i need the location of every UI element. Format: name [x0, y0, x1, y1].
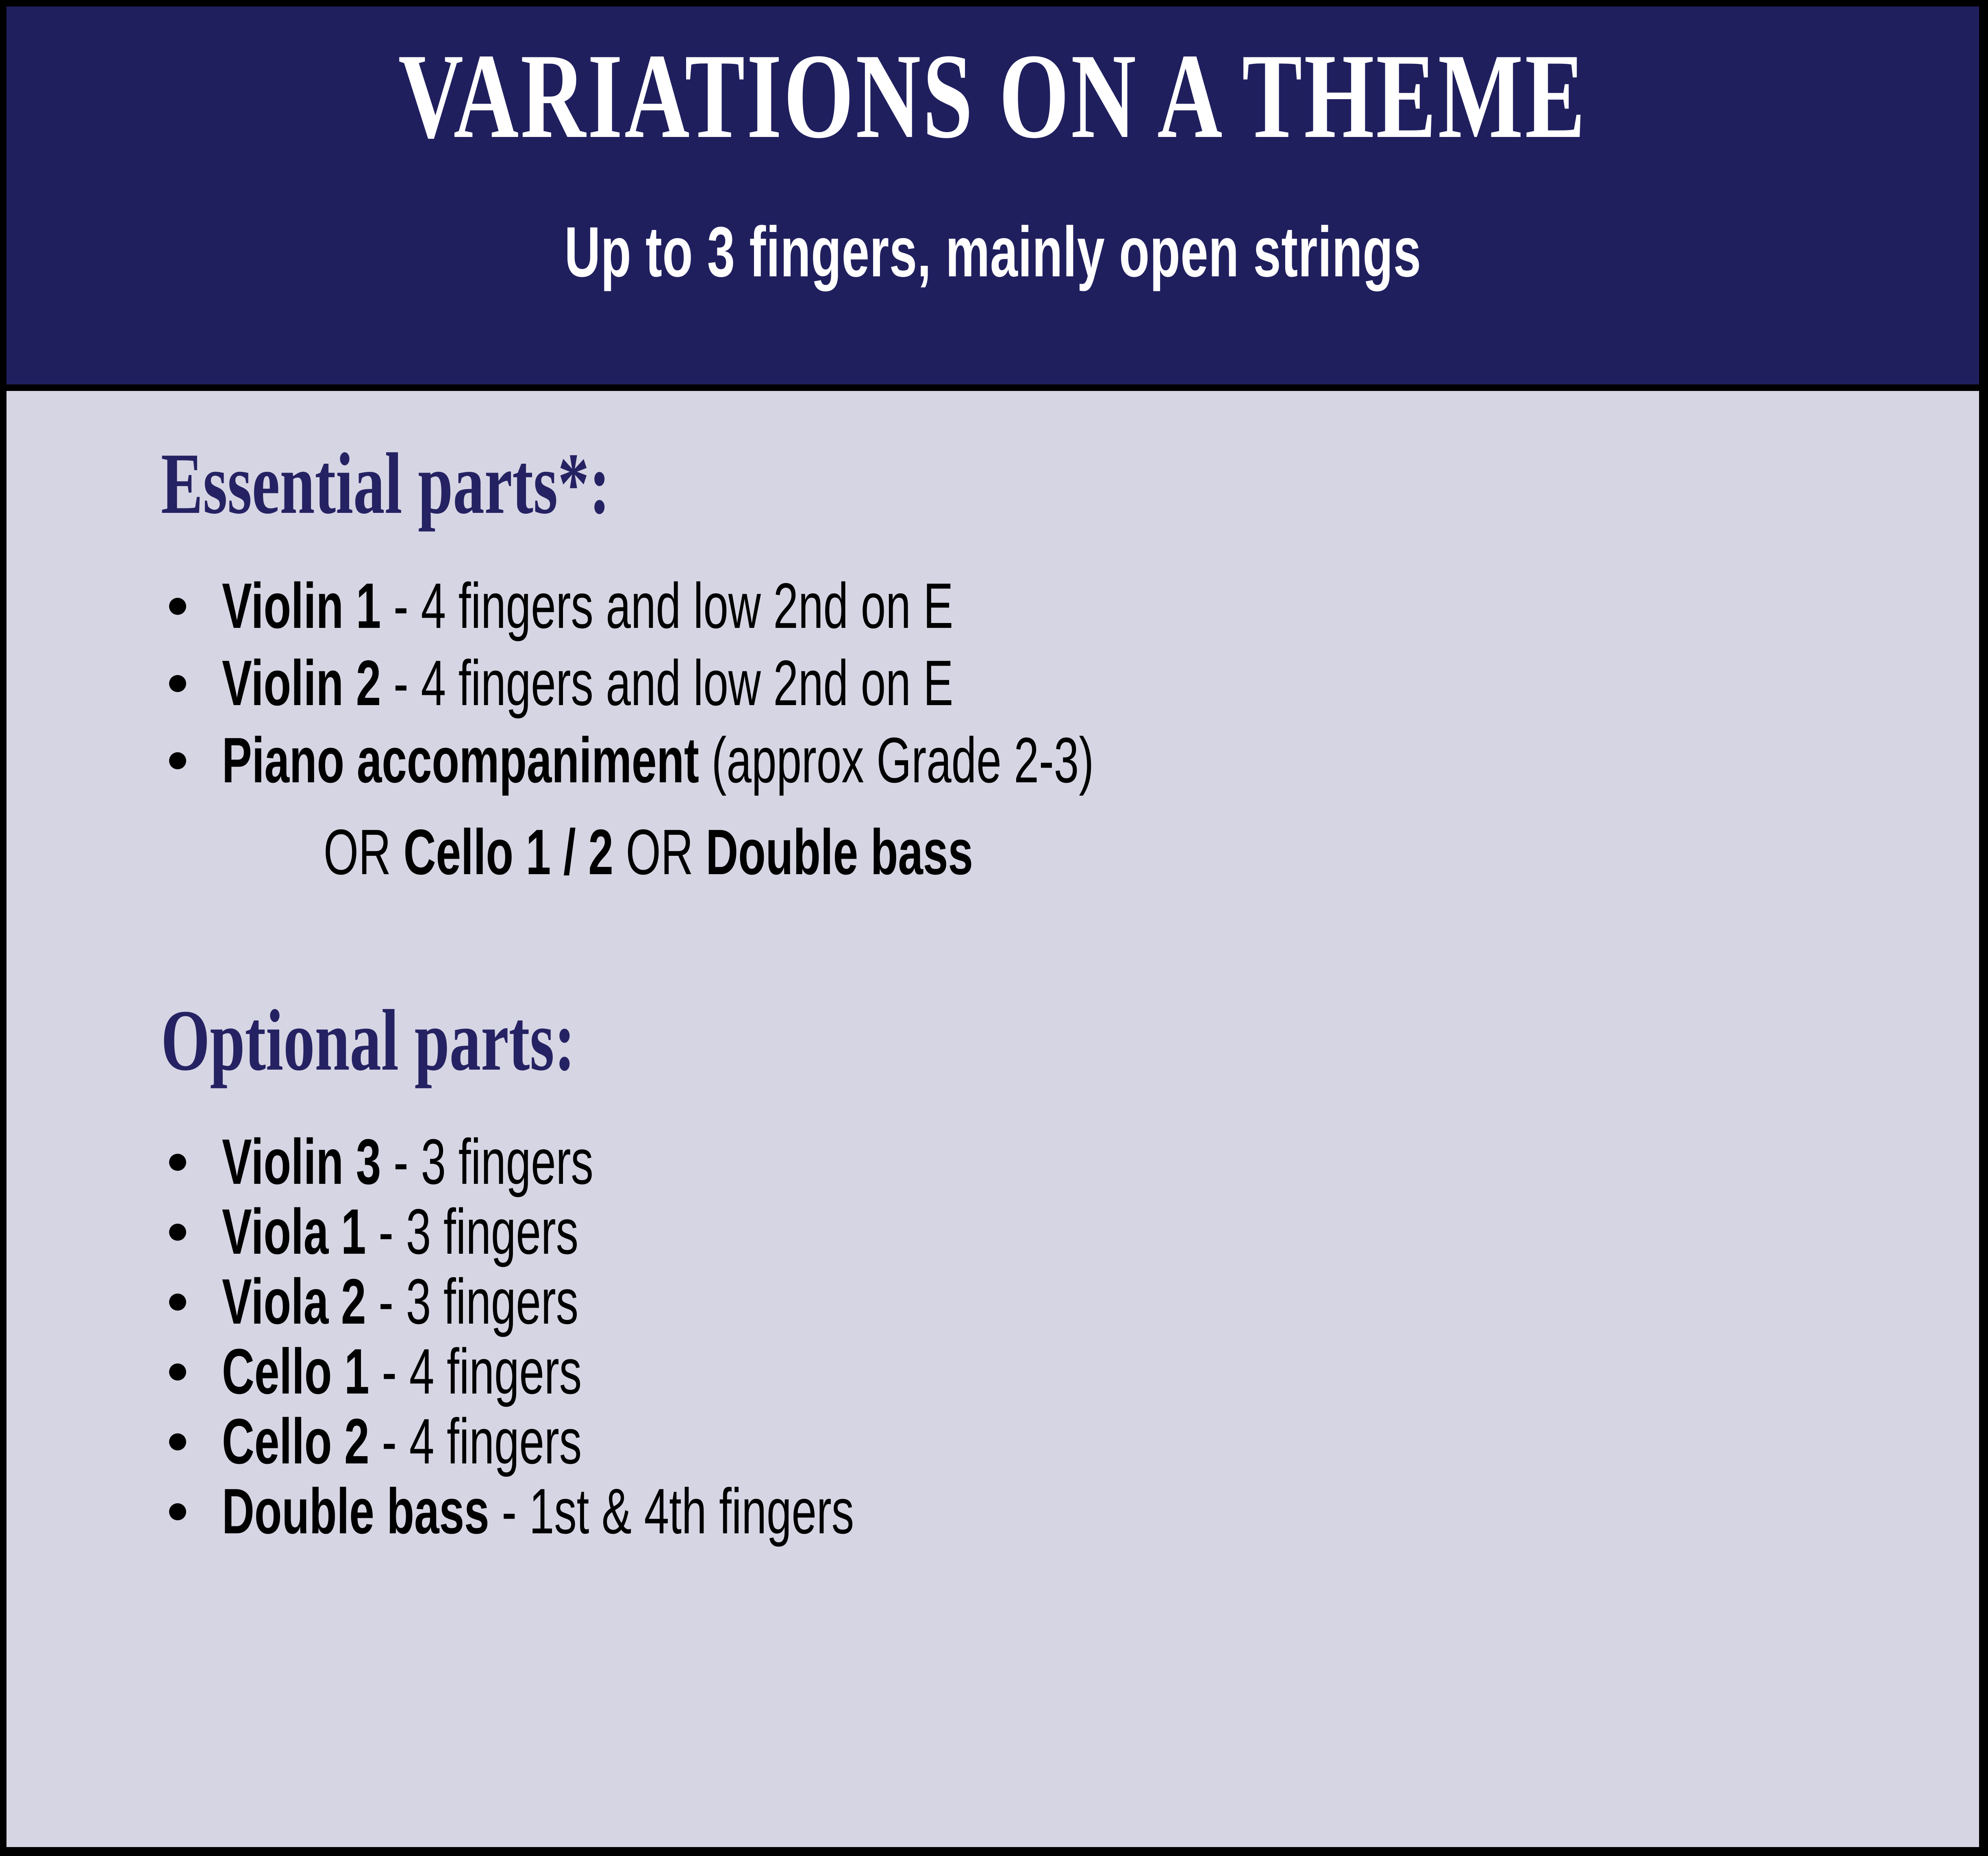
part-name: Viola 2 [222, 1266, 366, 1337]
subtitle-container: Up to 3 fingers, mainly open strings [7, 214, 1979, 295]
bullet-icon [169, 1363, 186, 1381]
essential-parts-heading: Essential parts*: [161, 440, 1039, 527]
alternative-parts-line: OR Cello 1 / 2 OR Double bass [7, 820, 1979, 885]
or-keyword-2: OR [613, 816, 706, 888]
page-title: VARIATIONS ON A THEME [398, 35, 1587, 157]
header-band: VARIATIONS ON A THEME Up to 3 fingers, m… [7, 7, 1979, 384]
part-entry: Cello 2 - 4 fingers [222, 1411, 582, 1472]
bullet-icon [169, 752, 186, 769]
body-panel: Essential parts*: Violin 1 - 4 fingers a… [7, 391, 1979, 1847]
bullet-icon [169, 598, 186, 615]
list-item: Violin 2 - 4 fingers and low 2nd on E [7, 653, 1979, 730]
alternative-option-2: Double bass [706, 816, 973, 888]
list-item: Violin 3 - 3 fingers [7, 1132, 1979, 1202]
part-entry: Violin 2 - 4 fingers and low 2nd on E [222, 653, 953, 713]
part-name: Double bass [222, 1476, 489, 1547]
poster-card: VARIATIONS ON A THEME Up to 3 fingers, m… [0, 0, 1988, 1856]
part-description: - 4 fingers [369, 1406, 582, 1477]
alternative-option-1: Cello 1 / 2 [404, 816, 613, 888]
bullet-icon [169, 1224, 186, 1241]
essential-parts-list: Violin 1 - 4 fingers and low 2nd on E Vi… [7, 576, 1979, 808]
part-name: Violin 1 [222, 570, 381, 642]
optional-parts-list: Violin 3 - 3 fingers Viola 1 - 3 fingers… [7, 1132, 1979, 1551]
part-name: Cello 1 [222, 1336, 369, 1407]
bullet-icon [169, 1294, 186, 1311]
list-item: Viola 2 - 3 fingers [7, 1272, 1979, 1342]
part-entry: Violin 3 - 3 fingers [222, 1132, 593, 1192]
list-item: Violin 1 - 4 fingers and low 2nd on E [7, 576, 1979, 653]
alternative-parts-text: OR Cello 1 / 2 OR Double bass [324, 820, 973, 885]
part-entry: Viola 1 - 3 fingers [222, 1202, 578, 1262]
list-item: Viola 1 - 3 fingers [7, 1202, 1979, 1272]
optional-parts-section: Optional parts: Violin 3 - 3 fingers Vio… [7, 996, 1979, 1551]
part-entry: Violin 1 - 4 fingers and low 2nd on E [222, 576, 953, 636]
part-entry: Cello 1 - 4 fingers [222, 1342, 582, 1402]
part-description: - 1st & 4th fingers [489, 1476, 854, 1547]
optional-parts-heading: Optional parts: [161, 996, 1039, 1084]
part-entry: Piano accompaniment (approx Grade 2-3) [222, 730, 1094, 790]
list-item: Cello 2 - 4 fingers [7, 1411, 1979, 1481]
part-description: - 3 fingers [366, 1196, 578, 1268]
part-entry: Double bass - 1st & 4th fingers [222, 1481, 854, 1541]
bullet-icon [169, 1503, 186, 1520]
part-description: - 3 fingers [366, 1266, 578, 1337]
list-item: Cello 1 - 4 fingers [7, 1342, 1979, 1411]
part-description: (approx Grade 2-3) [699, 725, 1094, 796]
list-item: Piano accompaniment (approx Grade 2-3) [7, 730, 1979, 808]
part-name: Violin 2 [222, 647, 381, 719]
part-entry: Viola 2 - 3 fingers [222, 1272, 578, 1332]
part-name: Piano accompaniment [222, 725, 699, 796]
part-name: Cello 2 [222, 1406, 369, 1477]
bullet-icon [169, 1154, 186, 1171]
part-name: Viola 1 [222, 1196, 366, 1268]
part-description: - 4 fingers [369, 1336, 582, 1407]
list-item: Double bass - 1st & 4th fingers [7, 1481, 1979, 1551]
bullet-icon [169, 675, 186, 692]
essential-parts-section: Essential parts*: Violin 1 - 4 fingers a… [7, 440, 1979, 885]
part-description: - 4 fingers and low 2nd on E [381, 647, 953, 719]
part-name: Violin 3 [222, 1126, 381, 1198]
part-description: - 4 fingers and low 2nd on E [381, 570, 953, 642]
bullet-icon [169, 1433, 186, 1450]
title-container: VARIATIONS ON A THEME [7, 35, 1979, 161]
part-description: - 3 fingers [381, 1126, 593, 1198]
or-keyword-1: OR [324, 816, 404, 888]
page-subtitle: Up to 3 fingers, mainly open strings [564, 214, 1421, 291]
